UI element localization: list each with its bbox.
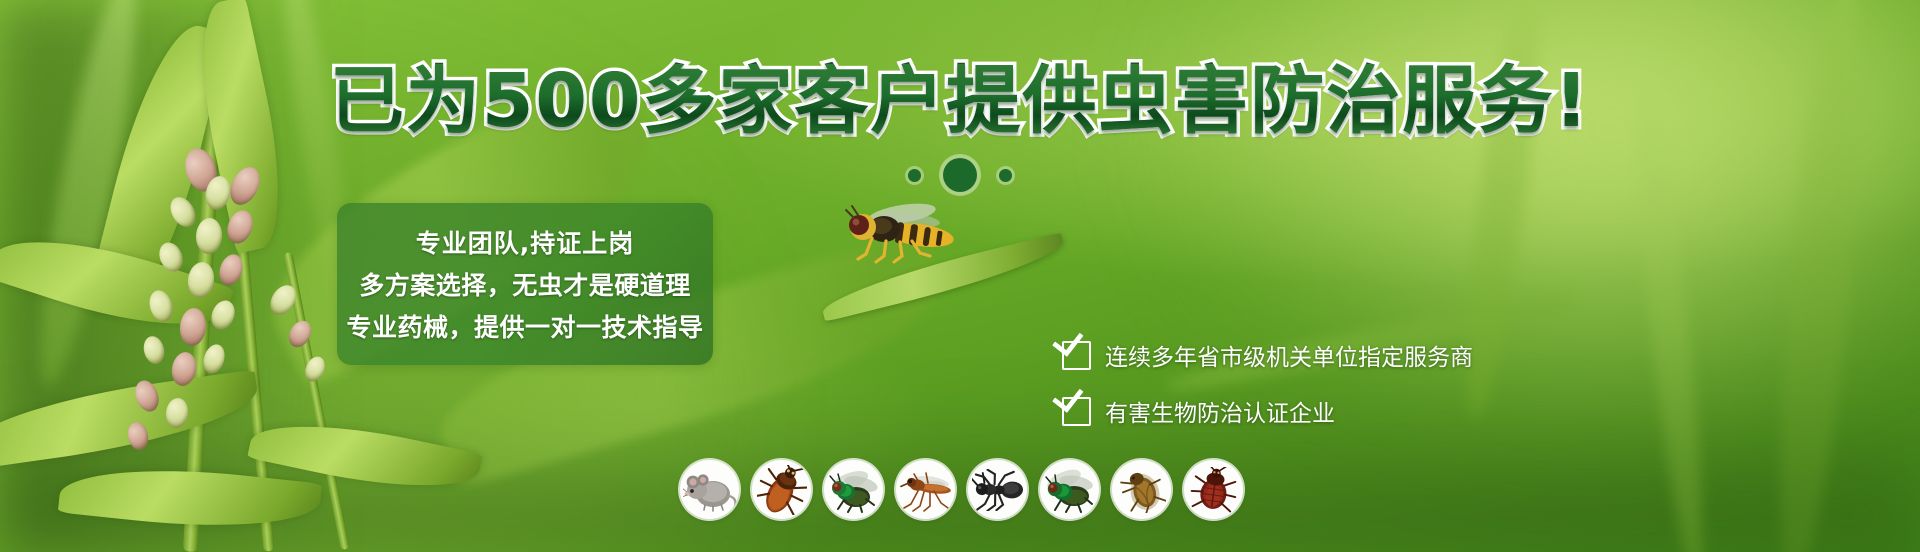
feature-line-3: 专业药械，提供一对一技术指导 [346, 308, 703, 344]
pest-icon-blowfly[interactable] [1040, 460, 1099, 519]
plant-leaf [0, 369, 263, 470]
list-item: 有害生物防治认证企业 [1062, 394, 1473, 428]
checkbox-checked-icon [1062, 397, 1091, 426]
plant-bud [285, 317, 316, 351]
plant-bud [141, 334, 167, 366]
pest-icon-housefly[interactable] [824, 460, 883, 519]
pest-icon-mouse[interactable] [680, 460, 739, 519]
decorative-dot-small-left [908, 169, 921, 182]
pest-icon-bedbug[interactable] [1184, 460, 1243, 519]
pest-icon-flea[interactable] [1112, 460, 1171, 519]
decorative-dot-large-center [943, 158, 977, 192]
decorative-dot-row [0, 158, 1920, 192]
list-item: 连续多年省市级机关单位指定服务商 [1062, 338, 1473, 372]
bullet-label: 有害生物防治认证企业 [1105, 394, 1335, 428]
feature-line-2: 多方案选择，无虫才是硬道理 [359, 266, 691, 302]
bullet-label: 连续多年省市级机关单位指定服务商 [1105, 338, 1473, 372]
pest-icon-mosquito[interactable] [896, 460, 955, 519]
pest-icon-row [680, 460, 1243, 519]
feature-bullet-list: 连续多年省市级机关单位指定服务商 有害生物防治认证企业 [1062, 338, 1473, 428]
pest-icon-ant[interactable] [968, 460, 1027, 519]
checkbox-checked-icon [1062, 341, 1091, 370]
decorative-dot-small-right [999, 169, 1012, 182]
plant-bud [195, 217, 223, 255]
pest-icon-cockroach[interactable] [752, 460, 811, 519]
promo-banner: 已为500多家客户提供虫害防治服务! 已为500多家客户提供虫害防治服务! 专业… [0, 0, 1920, 552]
feature-line-1: 专业团队,持证上岗 [416, 224, 635, 260]
page-title: 已为500多家客户提供虫害防治服务! [0, 64, 1920, 138]
feature-highlight-box: 专业团队,持证上岗 多方案选择，无虫才是硬道理 专业药械，提供一对一技术指导 [337, 203, 713, 365]
hoverfly-icon [840, 196, 970, 264]
